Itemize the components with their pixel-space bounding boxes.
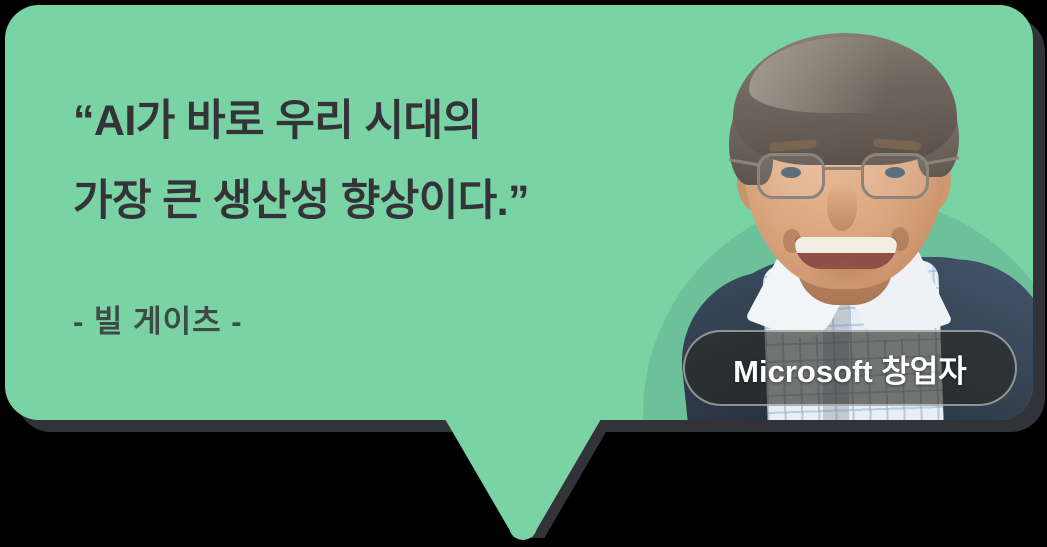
quote-line-2: 가장 큰 생산성 향상이다.” xyxy=(73,161,633,241)
portrait-chin-shadow xyxy=(803,263,889,289)
quote-text-block: “AI가 바로 우리 시대의 가장 큰 생산성 향상이다.” xyxy=(73,81,633,241)
portrait-nose xyxy=(827,183,857,231)
glasses-lens-left-icon xyxy=(757,153,825,199)
glasses-bridge-icon xyxy=(825,167,861,170)
portrait-teeth xyxy=(795,237,897,253)
quote-line-1: “AI가 바로 우리 시대의 xyxy=(73,81,633,161)
glasses-lens-right-icon xyxy=(861,153,929,199)
quote-attribution: - 빌 게이츠 - xyxy=(73,296,243,341)
quote-card-stage: “AI가 바로 우리 시대의 가장 큰 생산성 향상이다.” - 빌 게이츠 -… xyxy=(0,0,1047,547)
speech-bubble: “AI가 바로 우리 시대의 가장 큰 생산성 향상이다.” - 빌 게이츠 -… xyxy=(5,5,1033,420)
credential-badge: Microsoft 창업자 xyxy=(683,330,1017,406)
credential-badge-label: Microsoft 창업자 xyxy=(733,346,967,391)
